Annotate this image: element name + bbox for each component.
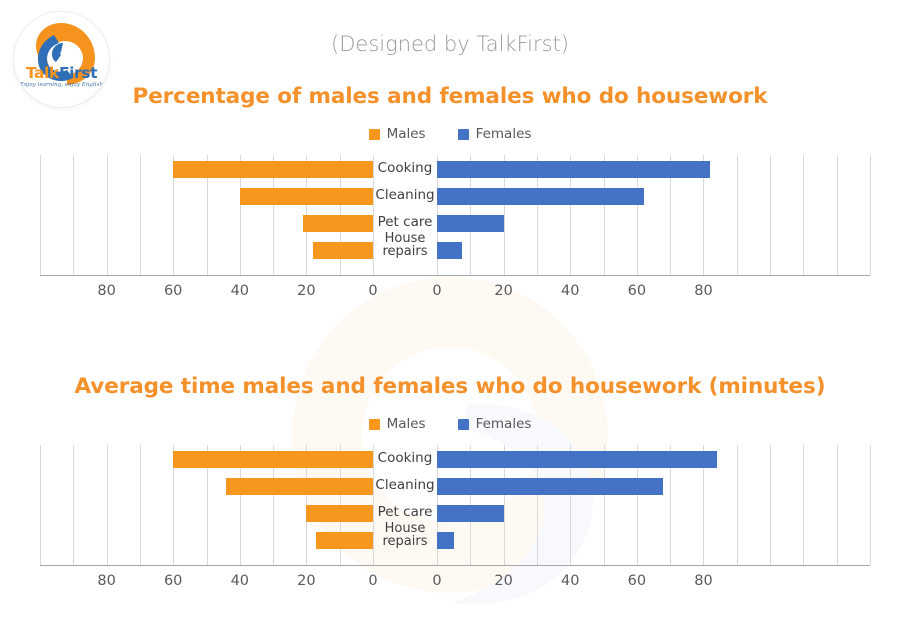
legend-item-females[interactable]: Females [458, 416, 532, 432]
chart1-right-panel [437, 155, 870, 275]
legend-item-males[interactable]: Males [369, 416, 426, 432]
bar-males-cleaning[interactable] [240, 188, 373, 205]
logo-word-first: First [59, 64, 97, 82]
legend-swatch-males-icon [369, 129, 380, 140]
gridline [40, 445, 41, 565]
category-label-cooking: Cooking [373, 162, 437, 175]
bar-females-cleaning[interactable] [437, 188, 644, 205]
tick-label-left-0: 0 [353, 573, 393, 589]
tick-label-right-40: 40 [550, 283, 590, 299]
tick-label-left-0: 0 [353, 283, 393, 299]
tick-label-left-20: 20 [286, 283, 326, 299]
tick-label-left-40: 40 [220, 573, 260, 589]
bar-males-house-repairs[interactable] [313, 242, 373, 259]
tick-label-right-60: 60 [617, 283, 657, 299]
legend-label: Females [476, 416, 532, 432]
legend-swatch-males-icon [369, 419, 380, 430]
category-label-house-repairs: House repairs [373, 233, 437, 258]
bar-females-pet-care[interactable] [437, 215, 504, 232]
tick-label-right-0: 0 [417, 283, 457, 299]
category-label-cleaning: Cleaning [373, 479, 437, 492]
gridline [140, 445, 141, 565]
gridline [837, 445, 838, 565]
designed-by-credit: (Designed by TalkFirst) [0, 32, 900, 56]
tick-label-left-60: 60 [153, 283, 193, 299]
gridline [803, 445, 804, 565]
bar-males-cooking[interactable] [173, 451, 373, 468]
tick-label-left-80: 80 [87, 573, 127, 589]
gridline [107, 445, 108, 565]
legend-label: Males [387, 126, 426, 142]
chart1-axis-line [40, 275, 870, 276]
tick-label-right-80: 80 [683, 573, 723, 589]
chart2-right-panel [437, 445, 870, 565]
bar-females-cooking[interactable] [437, 451, 717, 468]
gridline [140, 155, 141, 275]
category-label-pet-care: Pet care [373, 506, 437, 519]
bar-males-house-repairs[interactable] [316, 532, 373, 549]
chart2-legend: MalesFemales [0, 416, 900, 432]
bar-females-cooking[interactable] [437, 161, 710, 178]
tick-label-left-60: 60 [153, 573, 193, 589]
tick-label-right-20: 20 [484, 573, 524, 589]
bar-males-pet-care[interactable] [306, 505, 373, 522]
bar-males-cleaning[interactable] [226, 478, 373, 495]
gridline [770, 155, 771, 275]
gridline [40, 155, 41, 275]
bar-females-cleaning[interactable] [437, 478, 663, 495]
legend-label: Females [476, 126, 532, 142]
legend-item-females[interactable]: Females [458, 126, 532, 142]
legend-swatch-females-icon [458, 419, 469, 430]
chart1-left-panel [40, 155, 373, 275]
gridline [737, 445, 738, 565]
gridline [803, 155, 804, 275]
gridline [770, 445, 771, 565]
tick-label-left-80: 80 [87, 283, 127, 299]
tick-label-left-20: 20 [286, 573, 326, 589]
gridline [870, 445, 871, 565]
bar-males-pet-care[interactable] [303, 215, 373, 232]
chart2-plot-area: CookingCleaningPet careHouse repairs8060… [0, 445, 900, 590]
category-label-pet-care: Pet care [373, 216, 437, 229]
chart1-plot-area: CookingCleaningPet careHouse repairs8060… [0, 155, 900, 300]
category-label-cleaning: Cleaning [373, 189, 437, 202]
bar-females-house-repairs[interactable] [437, 242, 462, 259]
gridline [870, 155, 871, 275]
gridline [107, 155, 108, 275]
logo-word-talk: Talk [26, 64, 59, 82]
tick-label-left-40: 40 [220, 283, 260, 299]
bar-males-cooking[interactable] [173, 161, 373, 178]
category-label-house-repairs: House repairs [373, 523, 437, 548]
logo-wordmark: TalkFirst [14, 64, 109, 82]
chart2-left-panel [40, 445, 373, 565]
tick-label-right-0: 0 [417, 573, 457, 589]
legend-label: Males [387, 416, 426, 432]
legend-item-males[interactable]: Males [369, 126, 426, 142]
chart2-axis-line [40, 565, 870, 566]
bar-females-house-repairs[interactable] [437, 532, 454, 549]
gridline [73, 445, 74, 565]
gridline [73, 155, 74, 275]
chart1-title: Percentage of males and females who do h… [0, 84, 900, 109]
category-label-cooking: Cooking [373, 452, 437, 465]
tick-label-right-40: 40 [550, 573, 590, 589]
gridline [737, 155, 738, 275]
chart2-title: Average time males and females who do ho… [0, 374, 900, 399]
tick-label-right-60: 60 [617, 573, 657, 589]
gridline [837, 155, 838, 275]
legend-swatch-females-icon [458, 129, 469, 140]
bar-females-pet-care[interactable] [437, 505, 504, 522]
tick-label-right-80: 80 [683, 283, 723, 299]
tick-label-right-20: 20 [484, 283, 524, 299]
poster-canvas: TalkFirst Enjoy learning, enjoy English … [0, 0, 900, 633]
chart1-legend: MalesFemales [0, 126, 900, 142]
